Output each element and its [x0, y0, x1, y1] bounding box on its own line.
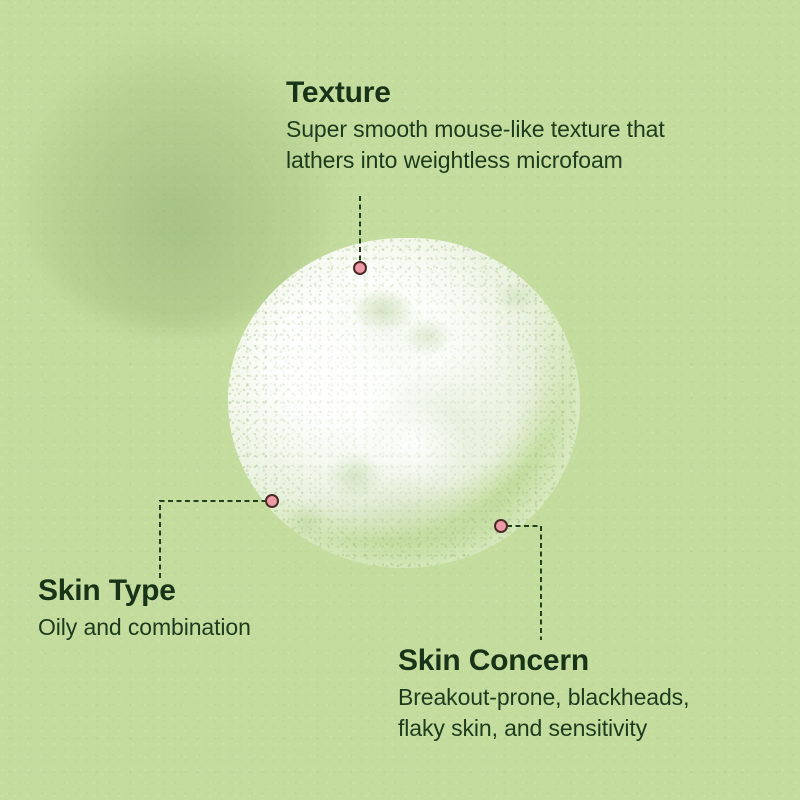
callout-skin-type-heading: Skin Type — [38, 574, 338, 608]
callout-skin-concern-body-line-1: Breakout-prone, blackheads, — [398, 682, 768, 713]
callout-texture-heading: Texture — [286, 76, 776, 110]
callout-texture-body-line-2: lathers into weightless microfoam — [286, 145, 776, 176]
foam-bubble-speckle-layer — [228, 238, 580, 568]
foam-cleanser-swatch — [228, 238, 580, 568]
callout-skin-concern-heading: Skin Concern — [398, 644, 768, 678]
callout-skin-type-body-line-1: Oily and combination — [38, 612, 338, 643]
callout-skin-concern: Skin Concern Breakout-prone, blackheads,… — [398, 644, 768, 744]
callout-skin-concern-body-line-2: flaky skin, and sensitivity — [398, 713, 768, 744]
callout-texture-body-line-1: Super smooth mouse-like texture that — [286, 114, 776, 145]
callout-skin-type: Skin Type Oily and combination — [38, 574, 338, 643]
callout-texture: Texture Super smooth mouse-like texture … — [286, 76, 776, 176]
product-infographic: Texture Super smooth mouse-like texture … — [0, 0, 800, 800]
